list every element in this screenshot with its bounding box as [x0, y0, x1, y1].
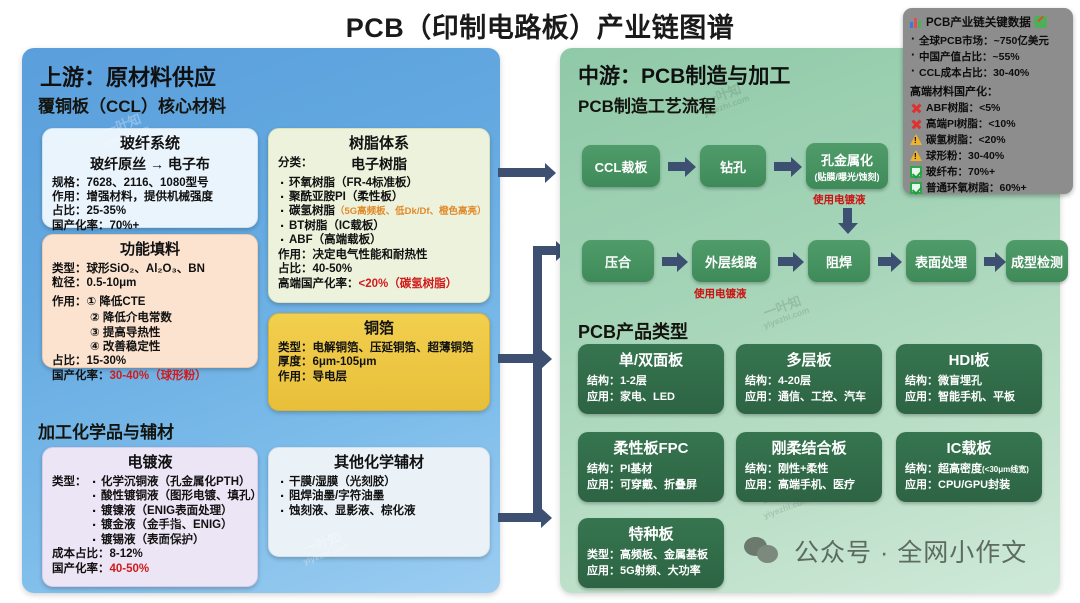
localization-item: 碳氢树脂：<20%	[910, 132, 1066, 147]
process-step-label: 阻焊	[826, 252, 852, 271]
process-step-surface-finish[interactable]: 表面处理	[906, 240, 976, 282]
filler-role-3: ④ 改善稳定性	[52, 340, 248, 354]
resin-item-name: 聚酰亚胺PI（柔性板）	[289, 191, 403, 203]
card-title: 电镀液	[52, 454, 248, 473]
list-item: 聚酰亚胺PI（柔性板）	[278, 190, 480, 204]
card-title: 玻纤系统	[52, 135, 248, 154]
product-structure: 结构：PI基材	[587, 460, 715, 476]
list-item: 镀锡液（表面保护）	[90, 533, 248, 547]
product-application-value: CPU/GPU封装	[938, 479, 1010, 491]
plating-type-label: 类型：	[52, 475, 87, 489]
product-application-value: 高端手机、医疗	[778, 479, 855, 491]
filler-size: 粒径：0.5-10μm	[52, 276, 248, 290]
list-item: ABF（高端载板）	[278, 233, 480, 247]
key-data-title-text: PCB产业链关键数据	[926, 14, 1031, 30]
product-structure-value: PI基材	[620, 463, 652, 475]
list-item: BT树脂（IC载板）	[278, 219, 480, 233]
resin-localization-value: <20%（碳氢树脂）	[359, 278, 458, 290]
product-application: 应用：5G射频、大功率	[587, 562, 715, 578]
product-structure: 结构：刚性+柔性	[745, 460, 873, 476]
card-plating-solution[interactable]: 电镀液 类型： 化学沉铜液（孔金属化PTH） 酸性镀铜液（图形电镀、填孔） 镀镍…	[42, 447, 258, 587]
process-step-profiling-inspection[interactable]: 成型检测	[1006, 240, 1068, 282]
plating-localization-label: 国产化率：	[52, 563, 110, 575]
list-item: 镀镍液（ENIG表面处理）	[90, 504, 248, 518]
process-arrow-4	[778, 257, 794, 266]
process-step-outer-layer[interactable]: 外层线路	[692, 240, 770, 282]
card-subtitle: 玻纤原丝 → 电子布	[52, 156, 248, 174]
card-resin-system[interactable]: 树脂体系 分类： 电子树脂 环氧树脂（FR-4标准板） 聚酰亚胺PI（柔性板） …	[268, 128, 490, 303]
plating-localization-value: 40-50%	[110, 563, 150, 575]
resin-role: 作用：决定电气性能和耐热性	[278, 248, 480, 262]
product-name: 刚柔结合板	[745, 437, 873, 458]
product-structure-value: 微盲埋孔	[938, 375, 982, 387]
upstream-heading: 上游：原材料供应	[40, 60, 216, 92]
process-arrow-2	[774, 162, 792, 171]
resin-item-name: BT树脂（IC载板）	[289, 220, 385, 232]
product-application-value: 5G射频、大功率	[620, 565, 701, 577]
product-structure-value: 刚性+柔性	[778, 463, 828, 475]
warning-icon	[910, 134, 922, 145]
product-type-label: 类型：	[587, 549, 620, 561]
product-card-flexible-fpc[interactable]: 柔性板FPC 结构：PI基材 应用：可穿戴、折叠屏	[578, 432, 724, 502]
connector-arrow-bottom	[533, 246, 557, 255]
filler-share: 占比：15-30%	[52, 354, 248, 368]
resin-localization: 高端国产化率：<20%（碳氢树脂）	[278, 277, 480, 291]
card-glass-fiber[interactable]: 玻纤系统 玻纤原丝 → 电子布 规格：7628、2116、1080型号 作用：增…	[42, 128, 258, 228]
filler-role-2: ③ 提高导热性	[52, 326, 248, 340]
product-application: 应用：CPU/GPU封装	[905, 476, 1033, 492]
localization-item: ABF树脂：<5%	[910, 100, 1066, 115]
process-step-ccl-cutting[interactable]: CCL裁板	[582, 145, 660, 187]
product-structure: 类型：高频板、金属基板	[587, 546, 715, 562]
glass-spec: 规格：7628、2116、1080型号	[52, 176, 248, 190]
key-data-title: PCB产业链关键数据	[910, 14, 1066, 30]
product-type-value: 高频板、金属基板	[620, 549, 708, 561]
product-structure: 结构：微盲埋孔	[905, 372, 1033, 388]
connector-vertical-trunk	[533, 250, 542, 520]
product-application-label: 应用：	[587, 479, 620, 491]
product-name: 柔性板FPC	[587, 437, 715, 458]
product-application-label: 应用：	[905, 479, 938, 491]
key-data-row: CCL成本占比：30-40%	[910, 65, 1066, 80]
process-step-label: CCL裁板	[595, 157, 648, 176]
product-card-single-double-sided[interactable]: 单/双面板 结构：1-2层 应用：家电、LED	[578, 344, 724, 414]
filler-localization-value: 30-40%（球形粉）	[110, 370, 207, 382]
process-step-drilling[interactable]: 钻孔	[700, 145, 766, 187]
list-item: 环氧树脂（FR-4标准板）	[278, 176, 480, 190]
filler-role-0: ① 降低CTE	[87, 296, 146, 308]
localization-item: 高端PI树脂：<10%	[910, 116, 1066, 131]
card-title: 功能填料	[52, 241, 248, 260]
resin-class-label: 分类：	[278, 156, 313, 170]
glass-localization: 国产化率：70%+	[52, 219, 248, 233]
product-card-hdi[interactable]: HDI板 结构：微盲埋孔 应用：智能手机、平板	[896, 344, 1042, 414]
card-title: 铜箔	[278, 320, 480, 339]
product-card-rigid-flex[interactable]: 刚柔结合板 结构：刚性+柔性 应用：高端手机、医疗	[736, 432, 882, 502]
foil-role: 作用：导电层	[278, 370, 480, 384]
product-application-label: 应用：	[905, 391, 938, 403]
list-item: 镀金液（金手指、ENIG）	[90, 518, 248, 532]
product-application: 应用：家电、LED	[587, 388, 715, 404]
product-structure-value: 超高密度	[938, 463, 982, 475]
process-arrow-5	[878, 257, 892, 266]
resin-item-name: 环氧树脂（FR-4标准板）	[289, 177, 418, 189]
list-item: 蚀刻液、显影液、棕化液	[278, 504, 480, 518]
list-item: 化学沉铜液（孔金属化PTH）	[90, 475, 248, 489]
key-data-row: 全球PCB市场：~750亿美元	[910, 33, 1066, 48]
other-chemicals-list: 干膜/湿膜（光刻胶） 阻焊油墨/字符油墨 蚀刻液、显影液、棕化液	[278, 475, 480, 518]
process-arrow-down	[843, 208, 852, 224]
product-structure-label: 结构：	[745, 375, 778, 387]
key-data-panel: PCB产业链关键数据 全球PCB市场：~750亿美元 中国产值占比：~55% C…	[903, 8, 1073, 194]
product-name: HDI板	[905, 349, 1033, 370]
process-arrow-6	[984, 257, 996, 266]
localization-item: 球形粉：30-40%	[910, 148, 1066, 163]
process-step-label: 成型检测	[1011, 252, 1063, 271]
product-application: 应用：智能手机、平板	[905, 388, 1033, 404]
product-structure-label: 结构：	[587, 463, 620, 475]
localization-item: 普通环氧树脂：60%+	[910, 180, 1066, 195]
chemicals-section-heading: 加工化学品与辅材	[38, 418, 174, 443]
chart-pencil-icon	[1034, 16, 1047, 28]
list-item: 碳氢树脂（5G高频板、低Dk/Df、橙色高亮）	[278, 204, 480, 218]
localization-item-text: 玻纤布：70%+	[926, 164, 995, 179]
filler-role-1: ② 降低介电常数	[52, 311, 248, 325]
note-uses-plating-solution-2: 使用电镀液	[694, 286, 747, 301]
process-step-lamination[interactable]: 压合	[582, 240, 654, 282]
product-structure-label: 结构：	[905, 463, 938, 475]
product-name: 特种板	[587, 523, 715, 544]
process-step-label: 钻孔	[720, 157, 746, 176]
product-structure: 结构：4-20层	[745, 372, 873, 388]
product-structure-label: 结构：	[905, 375, 938, 387]
product-card-ic-substrate[interactable]: IC载板 结构：超高密度(<30μm线宽) 应用：CPU/GPU封装	[896, 432, 1042, 502]
check-icon	[910, 182, 922, 194]
product-structure-label: 结构：	[587, 375, 620, 387]
plating-localization: 国产化率：40-50%	[52, 562, 248, 576]
product-card-multilayer[interactable]: 多层板 结构：4-20层 应用：通信、工控、汽车	[736, 344, 882, 414]
localization-item-text: 球形粉：30-40%	[926, 148, 1004, 163]
resin-localization-label: 高端国产化率：	[278, 278, 359, 290]
product-application-value: 智能手机、平板	[938, 391, 1015, 403]
list-item: 酸性镀铜液（图形电镀、填孔）	[90, 489, 248, 503]
process-step-sublabel: (贴膜/曝光/蚀刻)	[815, 170, 880, 183]
product-application-value: 通信、工控、汽车	[778, 391, 866, 403]
process-step-label: 外层线路	[705, 252, 757, 271]
product-name: IC载板	[905, 437, 1033, 458]
connector-arrow-top	[498, 168, 546, 177]
process-arrow-1	[668, 162, 686, 171]
foil-thickness: 厚度：6μm-105μm	[278, 355, 480, 369]
localization-item-text: 碳氢树脂：<20%	[926, 132, 1006, 147]
process-heading: PCB制造工艺流程	[578, 92, 716, 117]
localization-item-text: 普通环氧树脂：60%+	[926, 180, 1027, 195]
product-card-special[interactable]: 特种板 类型：高频板、金属基板 应用：5G射频、大功率	[578, 518, 724, 588]
card-functional-filler[interactable]: 功能填料 类型：球形SiO₂、Al₂O₃、BN 粒径：0.5-10μm 作用：①…	[42, 234, 258, 368]
filler-localization-label: 国产化率：	[52, 370, 110, 382]
product-structure: 结构：1-2层	[587, 372, 715, 388]
resin-share: 占比：40-50%	[278, 262, 480, 276]
wechat-label: 公众号 · 全网小作文	[794, 533, 1027, 569]
product-application-value: 可穿戴、折叠屏	[620, 479, 697, 491]
product-application-label: 应用：	[745, 479, 778, 491]
filler-localization: 国产化率：30-40%（球形粉）	[52, 369, 248, 383]
product-structure-value: 4-20层	[778, 375, 811, 387]
resin-item-name: ABF（高端载板）	[289, 234, 382, 246]
product-structure: 结构：超高密度(<30μm线宽)	[905, 460, 1033, 476]
process-step-hole-metallization[interactable]: 孔金属化 (贴膜/曝光/蚀刻)	[806, 143, 888, 189]
card-title: 树脂体系	[278, 135, 480, 154]
key-data-row: 中国产值占比：~55%	[910, 49, 1066, 64]
product-application-label: 应用：	[587, 565, 620, 577]
warning-icon	[910, 150, 922, 161]
plating-cost: 成本占比：8-12%	[52, 547, 248, 561]
card-title: 其他化学辅材	[278, 454, 480, 473]
cross-icon	[910, 102, 922, 114]
resin-item-note: （5G高频板、低Dk/Df、橙色高亮）	[335, 206, 486, 217]
product-application-label: 应用：	[745, 391, 778, 403]
note-uses-plating-solution-1: 使用电镀液	[813, 192, 866, 207]
list-item: 阻焊油墨/字符油墨	[278, 489, 480, 503]
product-structure-value: 1-2层	[620, 375, 647, 387]
foil-type: 类型：电解铜箔、压延铜箔、超薄铜箔	[278, 341, 480, 355]
product-application-label: 应用：	[587, 391, 620, 403]
list-item: 干膜/湿膜（光刻胶）	[278, 475, 480, 489]
process-step-label: 压合	[605, 252, 631, 271]
process-step-solder-mask[interactable]: 阻焊	[808, 240, 870, 282]
product-application: 应用：高端手机、医疗	[745, 476, 873, 492]
localization-item-text: 高端PI树脂：<10%	[926, 116, 1016, 131]
wechat-branding: 公众号 · 全网小作文	[744, 533, 1027, 569]
resin-list: 环氧树脂（FR-4标准板） 聚酰亚胺PI（柔性板） 碳氢树脂（5G高频板、低Dk…	[278, 176, 480, 248]
glass-role: 作用：增强材料，提供机械强度	[52, 190, 248, 204]
localization-section-label: 高端材料国产化：	[910, 83, 1066, 99]
product-structure-note: (<30μm线宽)	[982, 465, 1029, 474]
product-application: 应用：可穿戴、折叠屏	[587, 476, 715, 492]
products-heading: PCB产品类型	[578, 318, 688, 344]
product-application: 应用：通信、工控、汽车	[745, 388, 873, 404]
product-name: 单/双面板	[587, 349, 715, 370]
card-copper-foil[interactable]: 铜箔 类型：电解铜箔、压延铜箔、超薄铜箔 厚度：6μm-105μm 作用：导电层	[268, 313, 490, 411]
process-step-label: 孔金属化	[821, 150, 873, 169]
product-application-value: 家电、LED	[620, 391, 675, 403]
card-subtitle: 分类： 电子树脂	[278, 156, 480, 174]
wechat-icon	[744, 537, 784, 565]
ccl-section-heading: 覆铜板（CCL）核心材料	[38, 92, 226, 117]
localization-item: 玻纤布：70%+	[910, 164, 1066, 179]
glass-share: 占比：25-35%	[52, 204, 248, 218]
plating-list-wrap: 类型： 化学沉铜液（孔金属化PTH） 酸性镀铜液（图形电镀、填孔） 镀镍液（EN…	[52, 475, 248, 547]
localization-item-text: ABF树脂：<5%	[926, 100, 1000, 115]
process-step-label: 表面处理	[915, 252, 967, 271]
card-other-chemicals[interactable]: 其他化学辅材 干膜/湿膜（光刻胶） 阻焊油墨/字符油墨 蚀刻液、显影液、棕化液	[268, 447, 490, 557]
midstream-heading: 中游：PCB制造与加工	[578, 60, 790, 90]
resin-subtitle-text: 电子树脂	[351, 156, 407, 172]
product-structure-label: 结构：	[745, 463, 778, 475]
cross-icon	[910, 118, 922, 130]
bar-chart-icon	[910, 17, 923, 28]
process-arrow-3	[662, 257, 678, 266]
product-name: 多层板	[745, 349, 873, 370]
filler-role-label: 作用：	[52, 296, 87, 308]
resin-item-name: 碳氢树脂	[289, 205, 335, 217]
filler-type: 类型：球形SiO₂、Al₂O₃、BN	[52, 262, 248, 276]
check-icon	[910, 166, 922, 178]
